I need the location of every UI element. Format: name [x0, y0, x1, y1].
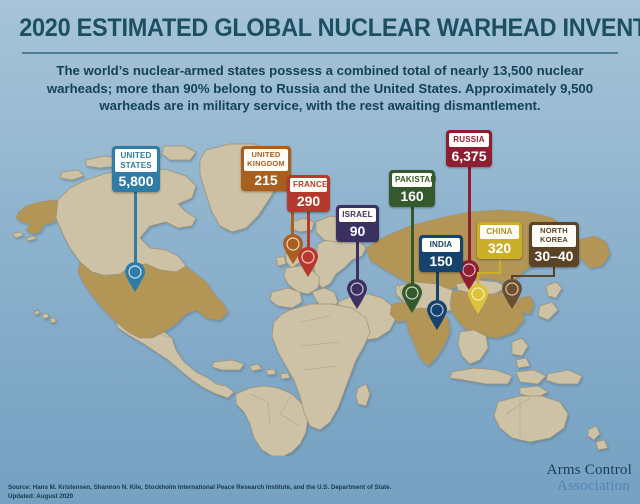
united-states-name: UNITED STATES	[115, 149, 157, 172]
logo-line-2: Association	[492, 478, 632, 494]
china-name: CHINA	[480, 225, 519, 239]
north-korea-name: NORTH KOREA	[532, 225, 576, 247]
israel-label[interactable]: ISRAEL 90	[336, 205, 379, 242]
china-label[interactable]: CHINA 320	[477, 222, 522, 259]
land-south-america	[236, 386, 308, 456]
logo-line-1: Arms Control	[492, 462, 632, 478]
russia-value: 6,375	[449, 147, 489, 164]
land-philippines	[512, 338, 530, 368]
land-hawaii	[34, 310, 56, 323]
land-caribbean	[212, 360, 290, 379]
land-japan	[538, 282, 562, 320]
china-pin[interactable]	[467, 284, 489, 314]
france-pin[interactable]	[297, 247, 319, 277]
pakistan-label[interactable]: PAKISTAN 160	[389, 170, 435, 207]
pakistan-value: 160	[392, 187, 432, 204]
russia-stem	[468, 166, 471, 264]
india-label[interactable]: INDIA 150	[419, 235, 463, 272]
united-states-pin[interactable]	[124, 262, 146, 292]
pakistan-pin[interactable]	[401, 283, 423, 313]
united-states-label[interactable]: UNITED STATES 5,800	[112, 146, 160, 192]
france-value: 290	[290, 192, 327, 209]
land-new-zealand	[588, 426, 608, 450]
header: 2020 ESTIMATED GLOBAL NUCLEAR WARHEAD IN…	[0, 0, 640, 128]
russia-label[interactable]: RUSSIA 6,375	[446, 130, 492, 167]
land-new-guinea	[546, 370, 582, 384]
page-title: 2020 ESTIMATED GLOBAL NUCLEAR WARHEAD IN…	[19, 14, 621, 43]
pakistan-stem	[411, 203, 414, 287]
china-value: 320	[480, 239, 519, 256]
israel-stem	[356, 237, 359, 283]
source-credit: Source: Hans M. Kristensen, Shannon N. K…	[8, 484, 428, 501]
france-label[interactable]: FRANCE 290	[287, 175, 330, 212]
arms-control-association-logo[interactable]: Arms Control Association	[492, 462, 632, 494]
land-iberia	[270, 288, 302, 308]
title-divider	[22, 52, 618, 54]
israel-pin[interactable]	[346, 279, 368, 309]
land-southeast-asia	[458, 330, 488, 364]
china-elbow-horizontal	[477, 272, 501, 274]
united-kingdom-value: 215	[244, 171, 288, 188]
land-madagascar	[356, 384, 370, 406]
israel-name: ISRAEL	[339, 208, 376, 222]
land-indonesia	[450, 368, 548, 398]
north-korea-elbow-horizontal	[511, 275, 555, 277]
source-line-1: Source: Hans M. Kristensen, Shannon N. K…	[8, 484, 428, 493]
united-states-stem	[134, 180, 137, 266]
north-korea-value: 30–40	[532, 247, 576, 264]
france-stem	[307, 207, 310, 251]
india-stem	[436, 268, 439, 304]
source-line-2: Updated: August 2020	[8, 493, 428, 502]
india-name: INDIA	[422, 238, 460, 252]
infographic-root: 2020 ESTIMATED GLOBAL NUCLEAR WARHEAD IN…	[0, 0, 640, 504]
united-states-value: 5,800	[115, 172, 157, 189]
france-name: FRANCE	[290, 178, 327, 192]
india-pin[interactable]	[426, 300, 448, 330]
north-korea-pin[interactable]	[501, 279, 523, 309]
united-kingdom-name: UNITED KINGDOM	[244, 149, 288, 171]
india-value: 150	[422, 252, 460, 269]
land-far-east	[578, 236, 610, 268]
pakistan-name: PAKISTAN	[392, 173, 432, 187]
israel-value: 90	[339, 222, 376, 239]
russia-name: RUSSIA	[449, 133, 489, 147]
land-australia	[494, 396, 568, 442]
united-kingdom-label[interactable]: UNITED KINGDOM 215	[241, 146, 291, 191]
north-korea-label[interactable]: NORTH KOREA 30–40	[529, 222, 579, 267]
subtitle-text: The world’s nuclear-armed states possess…	[26, 62, 614, 115]
